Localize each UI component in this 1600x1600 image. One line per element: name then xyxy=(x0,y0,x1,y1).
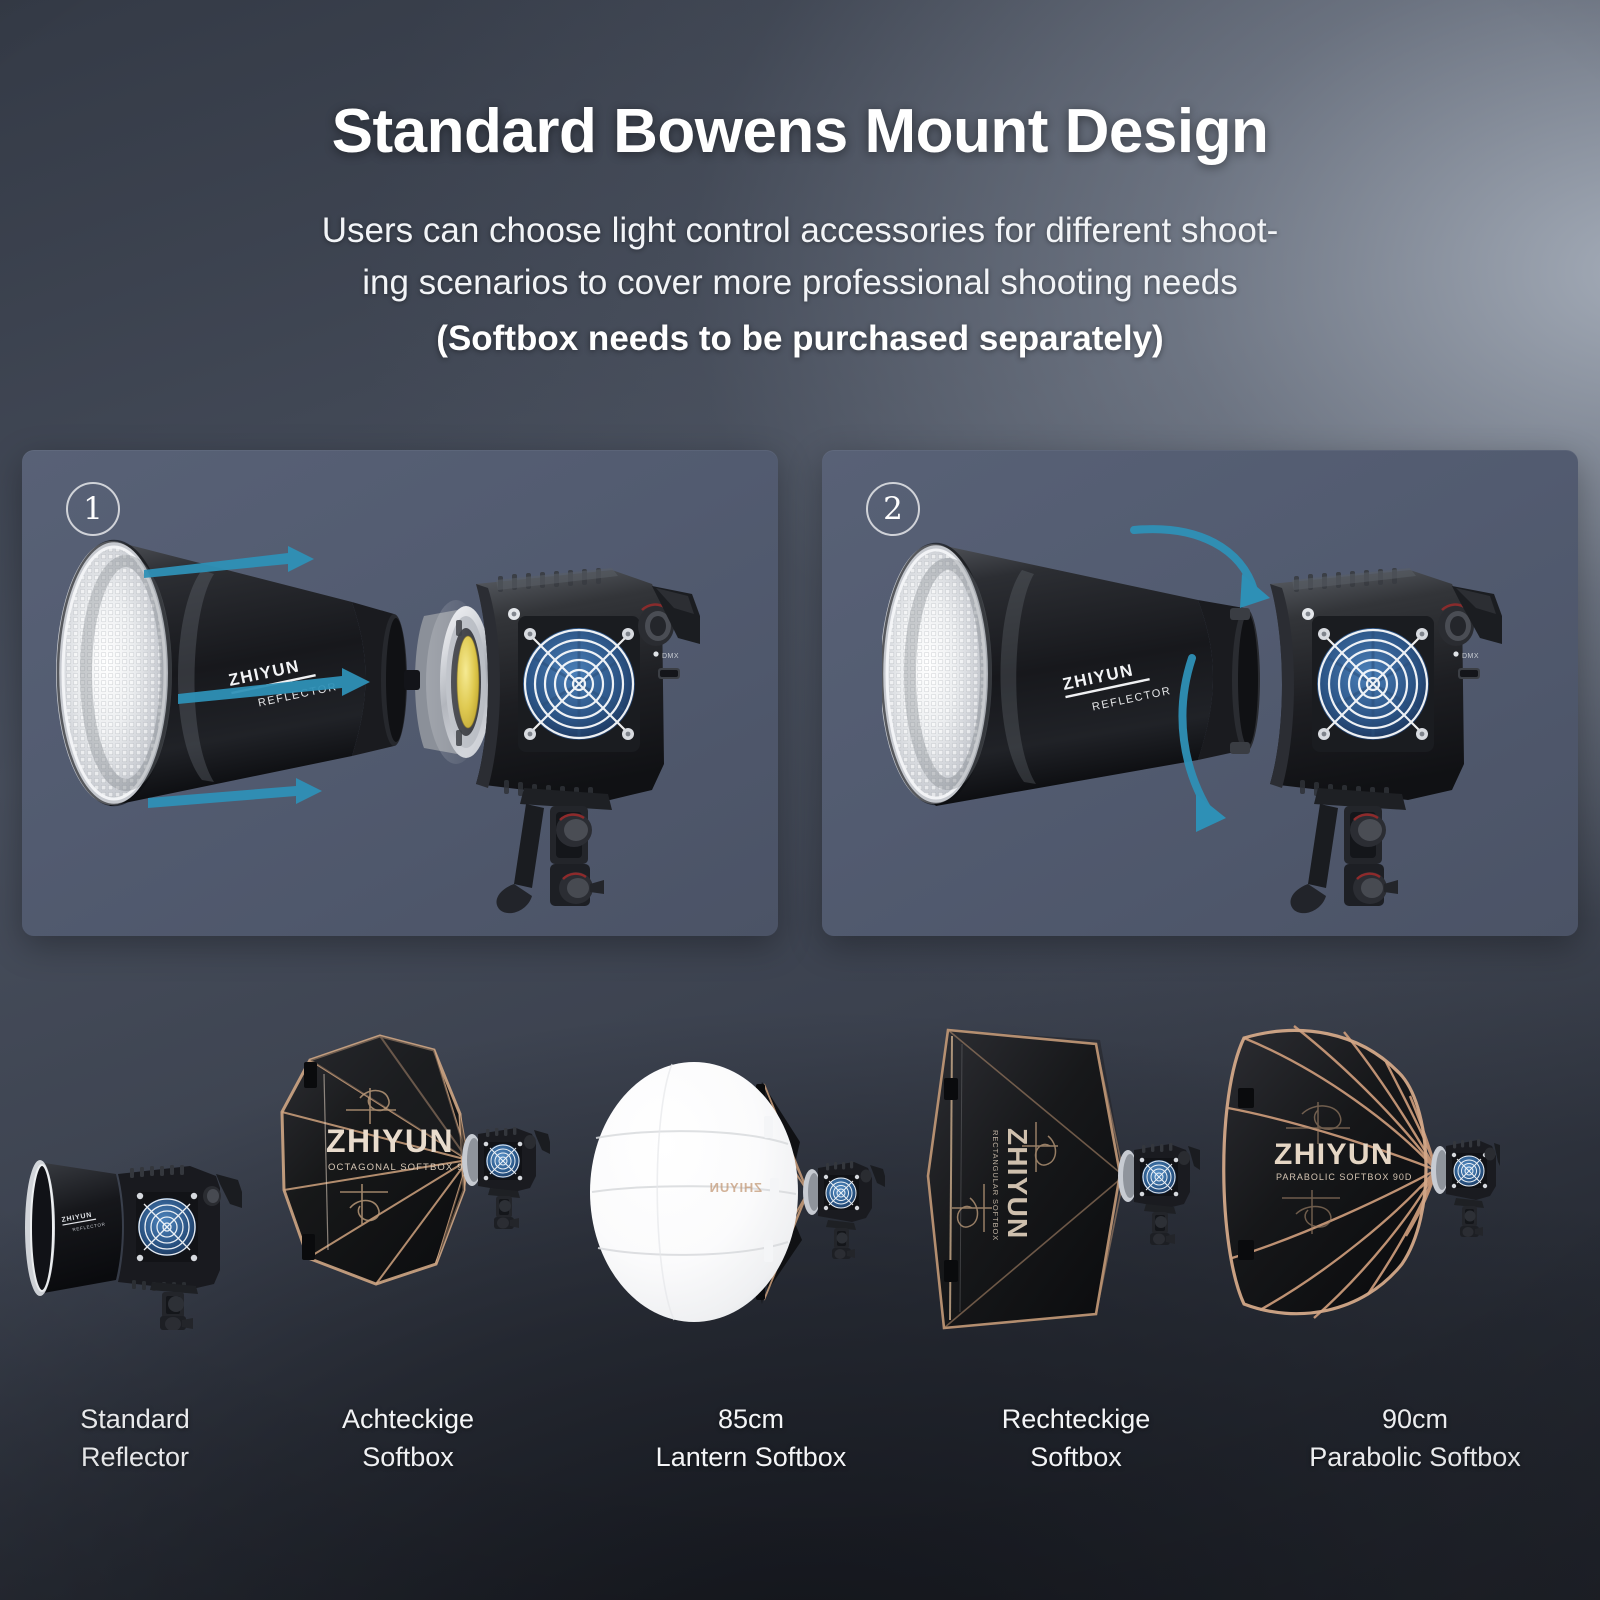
label-parabolic-softbox: 90cm Parabolic Softbox xyxy=(1270,1400,1560,1477)
header: Standard Bowens Mount Design Users can c… xyxy=(0,0,1600,359)
infographic-background: Standard Bowens Mount Design Users can c… xyxy=(0,0,1600,1600)
tilt-knob xyxy=(556,813,592,847)
lock-knob xyxy=(1353,872,1398,904)
light-head-body: DMX xyxy=(476,568,700,801)
yoke-bracket xyxy=(496,788,612,913)
step-1-illustration: ZHIYUN REFLECTOR xyxy=(52,498,752,928)
accessory-item-standard-reflector: ZHIYUN REFLECTOR xyxy=(14,1000,254,1420)
fan-icon xyxy=(136,1192,198,1262)
subtitle-line-2: ing scenarios to cover more professional… xyxy=(0,257,1600,309)
label-lantern-softbox: 85cm Lantern Softbox xyxy=(630,1400,872,1477)
label-standard-reflector: Standard Reflector xyxy=(30,1400,240,1477)
tilt-knob xyxy=(1350,813,1386,847)
purchase-note: (Softbox needs to be purchased separatel… xyxy=(0,319,1600,359)
label-octagonal-softbox: Achteckige Softbox xyxy=(300,1400,516,1477)
svg-text:RECTANGULAR SOFTBOX: RECTANGULAR SOFTBOX xyxy=(991,1130,1000,1241)
lantern-softbox-figure: ZHIYUN xyxy=(586,1042,886,1342)
light-head-body: DMX xyxy=(1270,568,1502,801)
accessory-item-parabolic-softbox: ZHIYUN PARABOLIC SOFTBOX 90D xyxy=(1210,1000,1500,1420)
svg-text:ZHIYUN: ZHIYUN xyxy=(326,1123,454,1159)
attached-light-head xyxy=(803,1161,885,1259)
parabolic-softbox-figure: ZHIYUN PARABOLIC SOFTBOX 90D xyxy=(1210,1018,1500,1358)
subtitle-line-1: Users can choose light control accessori… xyxy=(0,205,1600,257)
rectangular-softbox-figure: ZHIYUN RECTANGULAR SOFTBOX xyxy=(910,1014,1200,1364)
svg-text:ZHIYUN: ZHIYUN xyxy=(1274,1138,1394,1171)
step-2-illustration: ZHIYUN REFLECTOR xyxy=(882,498,1562,928)
cooling-fan xyxy=(1302,608,1434,752)
accessory-item-rectangular-softbox: ZHIYUN RECTANGULAR SOFTBOX xyxy=(910,1000,1200,1420)
bowens-mount-assembly xyxy=(404,600,492,764)
svg-text:DMX: DMX xyxy=(1462,653,1479,660)
standard-reflector-figure: ZHIYUN REFLECTOR xyxy=(20,1130,250,1330)
attached-light-head xyxy=(462,1127,550,1229)
accessory-item-lantern-softbox: ZHIYUN xyxy=(586,1000,886,1420)
svg-text:PARABOLIC SOFTBOX 90D: PARABOLIC SOFTBOX 90D xyxy=(1276,1172,1412,1182)
page-title: Standard Bowens Mount Design xyxy=(0,96,1600,167)
accessory-row: ZHIYUN REFLECTOR xyxy=(0,1000,1600,1420)
subtitle-block: Users can choose light control accessori… xyxy=(0,205,1600,359)
step-panel-2: 2 xyxy=(822,450,1578,936)
label-rectangular-softbox: Rechteckige Softbox xyxy=(966,1400,1186,1477)
lock-knob xyxy=(559,872,604,904)
yoke-bracket xyxy=(1290,788,1406,913)
lantern-diffuser xyxy=(590,1062,798,1322)
cooling-fan xyxy=(508,608,640,752)
accessory-item-octagonal-softbox: ZHIYUN OCTAGONAL SOFTBOX 90D xyxy=(264,1000,550,1420)
svg-text:OCTAGONAL SOFTBOX 90D: OCTAGONAL SOFTBOX 90D xyxy=(328,1162,478,1173)
svg-text:ZHIYUN: ZHIYUN xyxy=(709,1180,762,1195)
accessory-labels: Standard Reflector Achteckige Softbox 85… xyxy=(0,1400,1600,1510)
svg-text:ZHIYUN: ZHIYUN xyxy=(1002,1128,1033,1239)
attached-light-head xyxy=(1118,1143,1200,1245)
svg-text:DMX: DMX xyxy=(662,653,679,660)
octagonal-softbox-figure: ZHIYUN OCTAGONAL SOFTBOX 90D xyxy=(264,1022,550,1352)
lantern-brand: ZHIYUN xyxy=(709,1180,762,1195)
step-panel-1: 1 xyxy=(22,450,778,936)
attached-light-head xyxy=(1431,1139,1500,1237)
